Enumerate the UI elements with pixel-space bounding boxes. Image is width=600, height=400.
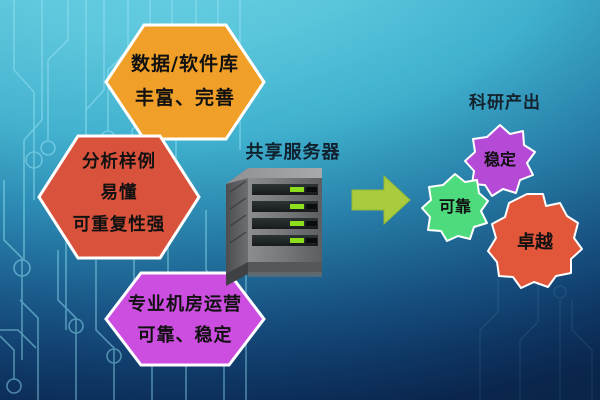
server-drive-slot bbox=[252, 235, 318, 246]
server-led bbox=[290, 221, 304, 226]
hexagon-shape bbox=[103, 22, 267, 142]
server-drive-slot bbox=[252, 184, 318, 195]
server-drive-slot bbox=[252, 201, 318, 212]
server-led bbox=[290, 204, 304, 209]
hexagon-shape bbox=[36, 133, 202, 261]
gear-reliable[interactable]: 可靠 bbox=[419, 171, 491, 243]
flow-arrow-right bbox=[350, 172, 412, 228]
hexagon-analysis-samples[interactable]: 分析样例 易懂 可重复性强 bbox=[36, 133, 202, 261]
shared-server-illustration[interactable] bbox=[222, 162, 334, 287]
gear-excellent[interactable]: 卓越 bbox=[486, 192, 584, 290]
server-drive-slot bbox=[252, 218, 318, 229]
server-title: 共享服务器 bbox=[218, 138, 368, 164]
hexagon-data-software-library[interactable]: 数据/软件库 丰富、完善 bbox=[103, 22, 267, 142]
output-title: 科研产出 bbox=[440, 88, 570, 113]
server-led bbox=[290, 238, 304, 243]
gear-shape bbox=[486, 192, 584, 290]
gear-shape bbox=[419, 171, 491, 243]
infographic-canvas: 数据/软件库 丰富、完善 分析样例 易懂 可重复性强 专业机房运营 可靠、稳定 … bbox=[0, 0, 600, 400]
server-led bbox=[290, 187, 304, 192]
server-side-panel bbox=[226, 168, 248, 280]
